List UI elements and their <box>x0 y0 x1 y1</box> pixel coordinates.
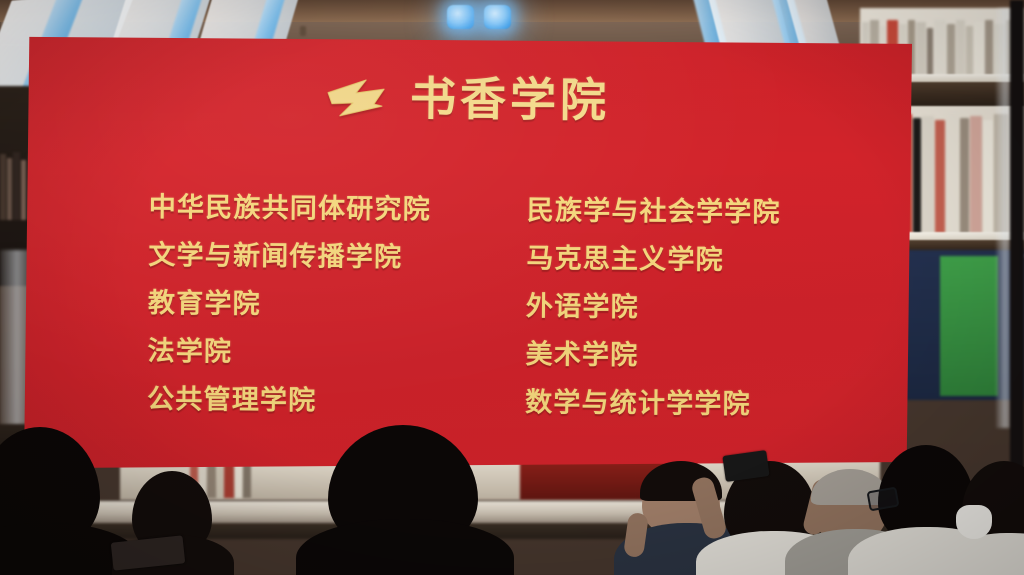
book-row <box>0 150 30 220</box>
front-ledge-shadow <box>0 521 1024 539</box>
led-display-screen: 书香学院 中华民族共同体研究院 民族学与社会学学院 文学与新闻传播学院 马克思主… <box>24 28 912 470</box>
screen-title-row: 书香学院 <box>24 72 912 127</box>
wall-edge <box>1010 0 1024 470</box>
ceiling-fixture <box>300 26 306 36</box>
college-item: 文学与新闻传播学院 <box>148 241 526 271</box>
college-item: 教育学院 <box>148 289 526 319</box>
college-item: 法学院 <box>147 337 525 367</box>
photo-scene: 书香学院 中华民族共同体研究院 民族学与社会学学院 文学与新闻传播学院 马克思主… <box>0 0 1024 575</box>
college-list: 中华民族共同体研究院 民族学与社会学学院 文学与新闻传播学院 马克思主义学院 教… <box>147 183 869 429</box>
college-item: 中华民族共同体研究院 <box>149 193 527 223</box>
college-item: 马克思主义学院 <box>526 245 868 275</box>
college-item: 美术学院 <box>525 341 867 371</box>
lightning-bolt-icon <box>326 77 388 120</box>
ceiling-led-light <box>447 5 474 29</box>
college-item: 外语学院 <box>526 293 868 323</box>
front-ledge <box>0 501 1024 523</box>
page-title: 书香学院 <box>410 75 610 123</box>
college-item: 数学与统计学学院 <box>525 389 867 419</box>
background-panel-green <box>940 256 998 396</box>
college-item: 民族学与社会学学院 <box>527 197 869 227</box>
ceiling-led-light <box>484 5 511 29</box>
college-item: 公共管理学院 <box>147 385 525 415</box>
